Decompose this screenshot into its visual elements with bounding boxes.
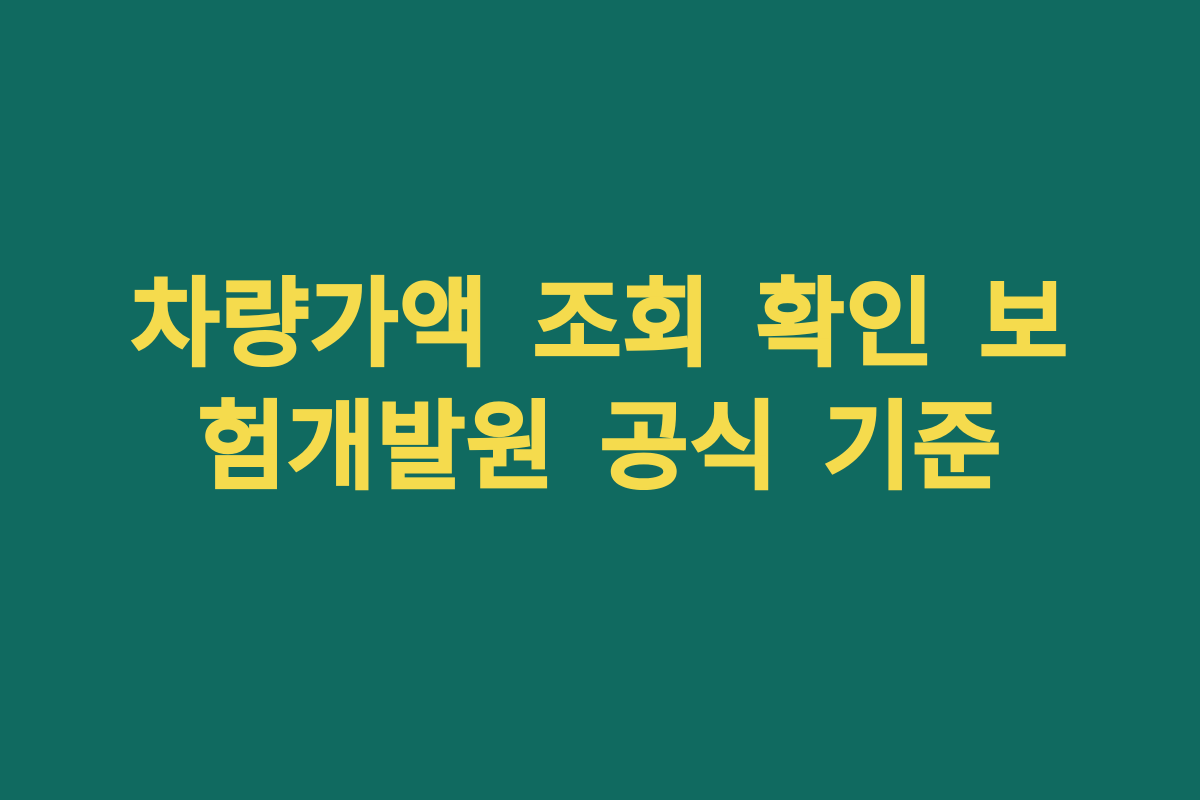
headline-line-2: 험개발원 공식 기준 <box>0 384 1200 511</box>
headline-block: 차량가액 조회 확인 보 험개발원 공식 기준 <box>0 261 1200 510</box>
headline-line-1: 차량가액 조회 확인 보 <box>0 261 1200 388</box>
banner-canvas: 차량가액 조회 확인 보 험개발원 공식 기준 <box>0 0 1200 800</box>
